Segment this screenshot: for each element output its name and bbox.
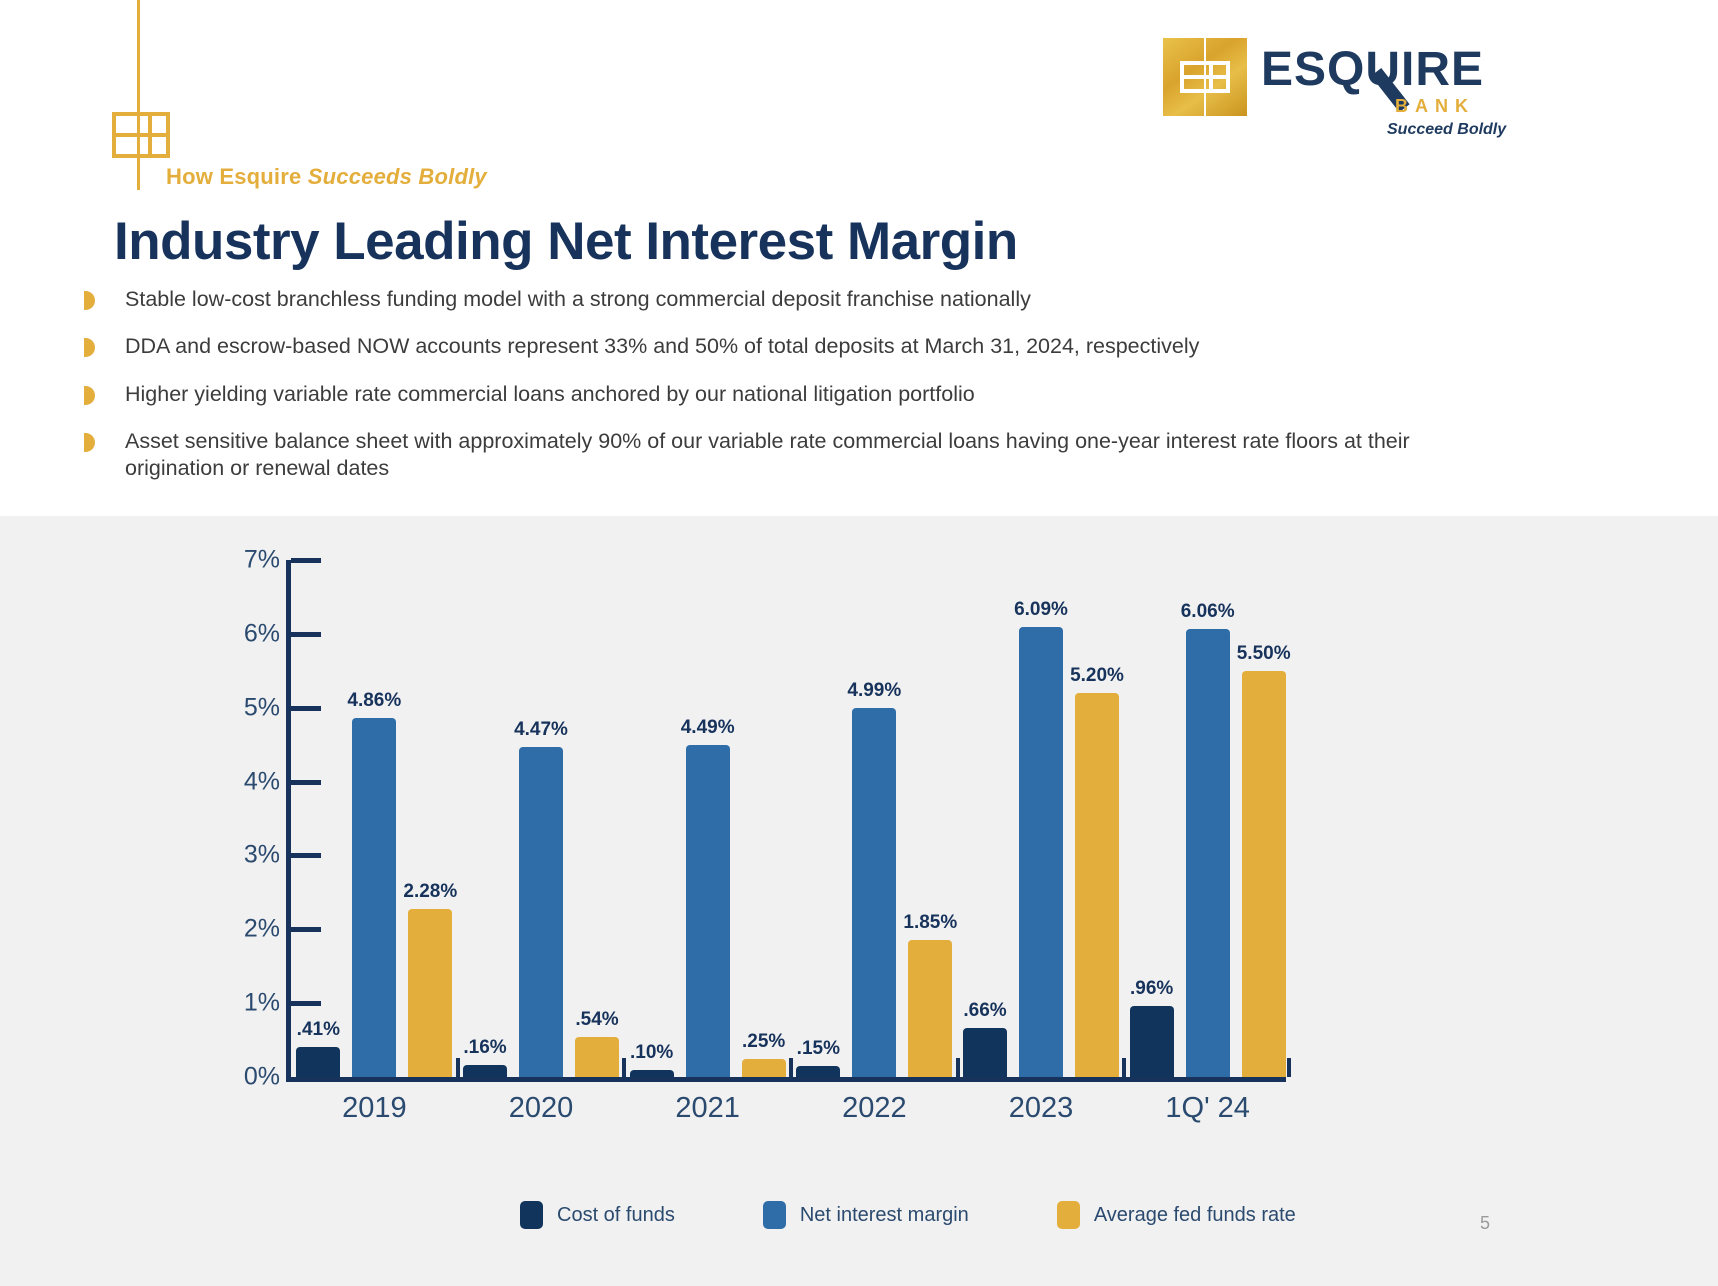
bar-value-label: 1.85% — [903, 912, 957, 934]
bar-net-interest-margin-2019 — [352, 718, 396, 1077]
bar-cost-of-funds-2020 — [463, 1065, 507, 1077]
x-axis-category-label: 2020 — [509, 1092, 574, 1125]
list-item: Asset sensitive balance sheet with appro… — [84, 428, 1484, 483]
bar-net-interest-margin-1Q24 — [1186, 629, 1230, 1077]
brand-sub: BANK — [1395, 96, 1475, 117]
bullet-text: Higher yielding variable rate commercial… — [125, 381, 975, 408]
bar-net-interest-margin-2020 — [519, 747, 563, 1077]
legend-item-average-fed-funds-rate[interactable]: Average fed funds rate — [1057, 1201, 1296, 1229]
bar-value-label: 4.99% — [847, 680, 901, 702]
y-axis-label: 4% — [244, 767, 280, 796]
x-axis-category-label: 2019 — [342, 1092, 407, 1125]
plot-bars: .41%4.86%2.28%.16%4.47%.54%.10%4.49%.25%… — [291, 560, 1288, 1077]
eyebrow-text: How Esquire Succeeds Boldly — [166, 164, 487, 190]
bar-cost-of-funds-1Q24 — [1130, 1006, 1174, 1077]
bar-value-label: 5.50% — [1237, 643, 1291, 665]
bar-net-interest-margin-2021 — [686, 745, 730, 1077]
bar-value-label: .54% — [575, 1009, 618, 1031]
bar-average-fed-funds-rate-2021 — [742, 1059, 786, 1077]
x-axis-category-label: 2021 — [675, 1092, 740, 1125]
eyebrow-text-plain: How Esquire — [166, 164, 308, 189]
bar-average-fed-funds-rate-2022 — [908, 940, 952, 1077]
bullet-marker-icon — [84, 433, 95, 452]
bar-value-label: 2.28% — [403, 881, 457, 903]
y-axis-label: 3% — [244, 841, 280, 870]
list-item: Stable low-cost branchless funding model… — [84, 286, 1484, 313]
y-axis-label: 1% — [244, 989, 280, 1018]
bullet-marker-icon — [84, 386, 95, 405]
bar-value-label: .41% — [297, 1019, 340, 1041]
brand-name: ESQUIRE — [1261, 46, 1484, 94]
bullet-list: Stable low-cost branchless funding model… — [84, 286, 1484, 502]
legend-item-net-interest-margin[interactable]: Net interest margin — [763, 1201, 969, 1229]
bar-value-label: 4.49% — [681, 717, 735, 739]
bar-cost-of-funds-2019 — [296, 1047, 340, 1077]
bar-value-label: .96% — [1130, 978, 1173, 1000]
y-axis-label: 2% — [244, 915, 280, 944]
bar-cost-of-funds-2022 — [796, 1066, 840, 1077]
legend-item-cost-of-funds[interactable]: Cost of funds — [520, 1201, 675, 1229]
bullet-text: Stable low-cost branchless funding model… — [125, 286, 1031, 313]
eb-eyebrow-logo-mark — [112, 0, 182, 190]
page-number: 5 — [1480, 1213, 1490, 1234]
bar-value-label: .10% — [630, 1042, 673, 1064]
bullet-text: Asset sensitive balance sheet with appro… — [125, 428, 1425, 483]
brand-tagline: Succeed Boldly — [1387, 121, 1506, 139]
x-axis-category-label: 2023 — [1009, 1092, 1074, 1125]
legend-swatch-icon — [520, 1201, 543, 1229]
bar-average-fed-funds-rate-2023 — [1075, 693, 1119, 1077]
bar-value-label: 4.47% — [514, 719, 568, 741]
bullet-marker-icon — [84, 291, 95, 310]
bar-value-label: 4.86% — [347, 690, 401, 712]
bar-value-label: .66% — [963, 1000, 1006, 1022]
x-axis-category-label: 2022 — [842, 1092, 907, 1125]
y-axis-label: 7% — [244, 546, 280, 575]
bar-value-label: 6.09% — [1014, 599, 1068, 621]
bar-value-label: 6.06% — [1181, 601, 1235, 623]
esquire-bank-logo: ESQUIRE BANK Succeed Boldly — [1163, 38, 1543, 148]
bar-value-label: .16% — [463, 1037, 506, 1059]
eyebrow-vertical-rule — [137, 0, 140, 190]
legend-label: Average fed funds rate — [1094, 1204, 1296, 1227]
list-item: DDA and escrow-based NOW accounts repres… — [84, 333, 1484, 360]
bullet-text: DDA and escrow-based NOW accounts repres… — [125, 333, 1199, 360]
chart-panel: 0%1%2%3%4%5%6%7% .41%4.86%2.28%.16%4.47%… — [0, 516, 1718, 1286]
bar-cost-of-funds-2021 — [630, 1070, 674, 1077]
page-title: Industry Leading Net Interest Margin — [114, 211, 1018, 272]
x-axis-line — [286, 1077, 1286, 1082]
bar-value-label: .25% — [742, 1031, 785, 1053]
y-axis-label: 5% — [244, 693, 280, 722]
bar-average-fed-funds-rate-2020 — [575, 1037, 619, 1077]
bar-value-label: .15% — [797, 1038, 840, 1060]
bar-cost-of-funds-2023 — [963, 1028, 1007, 1077]
bar-average-fed-funds-rate-2019 — [408, 909, 452, 1077]
y-axis-label: 0% — [244, 1063, 280, 1092]
eb-monogram-icon — [112, 112, 174, 158]
eyebrow-text-italic: Succeeds Boldly — [308, 164, 487, 189]
bar-value-label: 5.20% — [1070, 665, 1124, 687]
legend-swatch-icon — [763, 1201, 786, 1229]
bar-net-interest-margin-2022 — [852, 708, 896, 1077]
chart-legend: Cost of fundsNet interest marginAverage … — [520, 1201, 1296, 1229]
eb-logo-square-icon — [1163, 38, 1247, 116]
bullet-marker-icon — [84, 338, 95, 357]
bar-chart: 0%1%2%3%4%5%6%7% .41%4.86%2.28%.16%4.47%… — [228, 536, 1288, 1096]
list-item: Higher yielding variable rate commercial… — [84, 381, 1484, 408]
x-axis-category-label: 1Q' 24 — [1165, 1092, 1250, 1125]
legend-label: Cost of funds — [557, 1204, 675, 1227]
legend-swatch-icon — [1057, 1201, 1080, 1229]
legend-label: Net interest margin — [800, 1204, 969, 1227]
bar-net-interest-margin-2023 — [1019, 627, 1063, 1077]
y-axis-label: 6% — [244, 619, 280, 648]
bar-average-fed-funds-rate-1Q24 — [1242, 671, 1286, 1077]
